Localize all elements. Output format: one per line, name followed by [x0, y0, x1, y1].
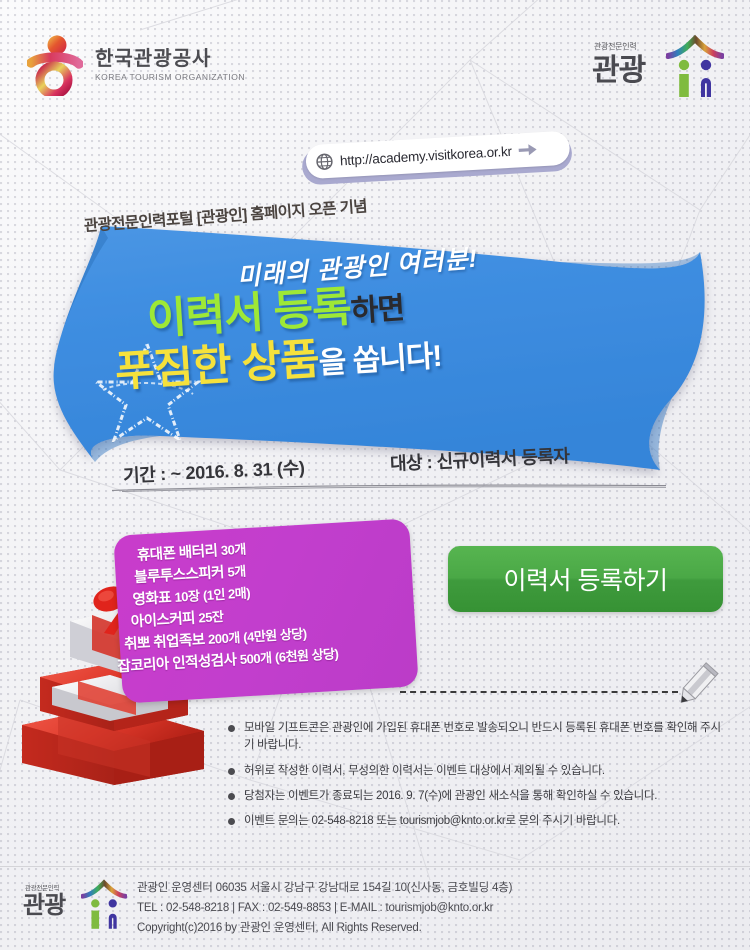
note-text: 이벤트 문의는 02-548-8218 또는 tourismjob@knto.o… [244, 813, 620, 830]
prize-note: (1인 2매) [203, 585, 251, 603]
prize-qty: 5개 [227, 564, 246, 580]
headline-line-1: 미래의 관광인 여러분! [236, 247, 478, 291]
gwangwang-in-icon [81, 878, 127, 932]
footer-address: 관광인 운영센터 06035 서울시 강남구 강남대로 154길 10(신사동,… [137, 879, 727, 899]
url-text[interactable]: http://academy.visitkorea.or.kr [340, 143, 513, 168]
prize-name: 잡코리아 인적성검사 [117, 652, 237, 675]
blue-banner: 관광전문인력포털 [관광인] 홈페이지 오픈 기념 미래의 관광인 여러분! 이… [0, 208, 750, 478]
headline-line-2-highlight: 이력서 등록 [146, 283, 352, 344]
kto-name-en: KOREA TOURISM ORGANIZATION [95, 73, 245, 82]
globe-icon [315, 152, 333, 170]
prize-qty: 30개 [220, 542, 246, 558]
headline-line-2-rest: 하면 [350, 292, 405, 328]
prize-note: (4만원 상당) [243, 626, 307, 645]
prize-name: 영화표 [132, 590, 171, 608]
gwangwang-in-main-label: 관광 [592, 56, 645, 86]
prize-qty: 25잔 [198, 609, 224, 625]
underline-decoration [110, 484, 670, 492]
bullet-icon [228, 725, 235, 732]
headline-line-3-highlight: 푸짐한 상품 [114, 336, 320, 397]
footer-logo-sub: 관광전문인력 [25, 882, 59, 892]
prize-name: 아이스커피 [130, 611, 195, 631]
prize-name: 블루투스스피커 [134, 565, 225, 586]
prize-name: 휴대폰 배터리 [136, 543, 217, 564]
headline-line-2: 이력서 등록하면 [146, 283, 405, 342]
kto-person-logo-icon [27, 34, 83, 96]
note-item: 이벤트 문의는 02-548-8218 또는 tourismjob@knto.o… [228, 813, 723, 830]
prize-bubble: 휴대폰 배터리 30개 블루투스스피커 5개 영화표 10장 (1인 2매) 아… [118, 527, 414, 695]
prize-qty: 200개 [208, 630, 240, 647]
page-header: 한국관광공사 KOREA TOURISM ORGANIZATION 관광전문인력… [0, 0, 750, 128]
arrow-right-icon[interactable] [518, 142, 538, 157]
kto-logo[interactable]: 한국관광공사 KOREA TOURISM ORGANIZATION [27, 34, 245, 96]
url-bar[interactable]: http://academy.visitkorea.or.kr [299, 130, 573, 187]
prize-qty: 10장 [174, 588, 200, 604]
promo-page: 한국관광공사 KOREA TOURISM ORGANIZATION 관광전문인력… [0, 0, 750, 950]
footer-contact: TEL : 02-548-8218 | FAX : 02-549-8853 | … [137, 899, 727, 919]
banner-headline: 미래의 관광인 여러분! 이력서 등록하면 푸짐한 상품을 쏩니다! [0, 236, 750, 436]
headline-line-3-rest: 을 쏩니다! [318, 340, 443, 381]
footer-text: 관광인 운영센터 06035 서울시 강남구 강남대로 154길 10(신사동,… [137, 879, 727, 938]
prize-note: (6천원 상당) [275, 646, 339, 665]
gwangwang-in-icon [666, 34, 724, 100]
footer-logo[interactable]: 관광전문인력 관광 [23, 879, 127, 935]
footer-logo-main: 관광 [23, 894, 65, 918]
gwangwang-in-sub-label: 관광전문인력 [594, 41, 636, 52]
note-item: 허위로 작성한 이력서, 무성의한 이력서는 이벤트 대상에서 제외될 수 있습… [228, 763, 723, 780]
footer-copyright: Copyright(c)2016 by 관광인 운영센터, All Rights… [137, 919, 727, 939]
kto-logo-text: 한국관광공사 KOREA TOURISM ORGANIZATION [95, 49, 245, 82]
gwangwang-in-logo[interactable]: 관광전문인력 관광 [592, 36, 724, 102]
register-resume-button-label: 이력서 등록하기 [504, 561, 668, 597]
note-item: 당첨자는 이벤트가 종료되는 2016. 9. 7(수)에 관광인 새소식을 통… [228, 788, 723, 805]
pencil-icon [672, 662, 720, 710]
note-text: 당첨자는 이벤트가 종료되는 2016. 9. 7(수)에 관광인 새소식을 통… [244, 788, 657, 805]
prize-name: 취뽀 취업족보 [124, 632, 205, 653]
event-period: 기간 : ~ 2016. 8. 31 (수) [122, 454, 305, 488]
dashed-divider [400, 691, 678, 693]
register-resume-button[interactable]: 이력서 등록하기 [448, 546, 723, 612]
event-notes: 모바일 기프트콘은 관광인에 가입된 휴대폰 번호로 발송되오니 반드시 등록된… [228, 720, 723, 838]
note-text: 허위로 작성한 이력서, 무성의한 이력서는 이벤트 대상에서 제외될 수 있습… [244, 763, 605, 780]
note-item: 모바일 기프트콘은 관광인에 가입된 휴대폰 번호로 발송되오니 반드시 등록된… [228, 720, 723, 755]
prize-qty: 500개 [239, 650, 271, 667]
prize-list: 휴대폰 배터리 30개 블루투스스피커 5개 영화표 10장 (1인 2매) 아… [126, 529, 419, 678]
kto-name-ko: 한국관광공사 [95, 49, 245, 69]
page-footer: 관광전문인력 관광 관광인 운영센터 06035 [0, 867, 750, 950]
bullet-icon [228, 818, 235, 825]
event-details: 기간 : ~ 2016. 8. 31 (수) 대상 : 신규이력서 등록자 [0, 448, 750, 494]
note-text: 모바일 기프트콘은 관광인에 가입된 휴대폰 번호로 발송되오니 반드시 등록된… [244, 720, 723, 755]
bullet-icon [228, 793, 235, 800]
bullet-icon [228, 768, 235, 775]
